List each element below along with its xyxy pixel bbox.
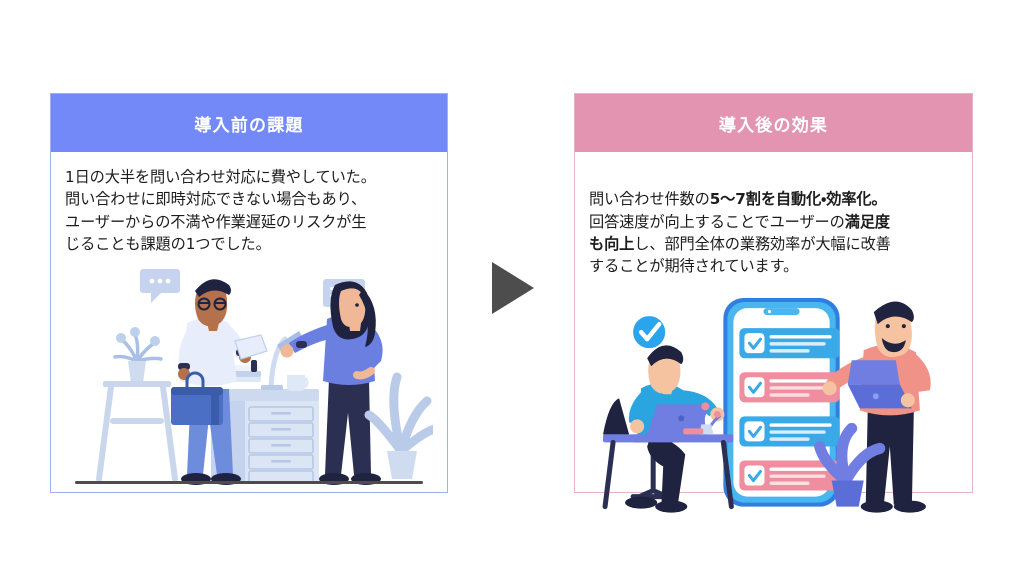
left-stool [99,381,175,479]
speech-bubble-left-icon [140,269,180,303]
card-before-title: 導入前の課題 [194,111,303,136]
slide-canvas: 導入前の課題 1日の大半を問い合わせ対応に費やしていた。 問い合わせに即時対応で… [0,0,1024,576]
card-after-title: 導入後の効果 [719,111,828,136]
smartphone-checklist-illustration [589,284,958,521]
check-badge-icon [633,316,665,348]
smartphone [723,298,839,507]
text-run-bold: 5〜7割を自動化・効率化。 [710,190,887,208]
card-after-header: 導入後の効果 [575,94,972,152]
card-before: 導入前の課題 1日の大半を問い合わせ対応に費やしていた。 問い合わせに即時対応で… [50,93,448,493]
right-plant [369,377,433,479]
card-before-header: 導入前の課題 [51,94,447,152]
text-run: 回答速度が向上することでユーザーの [589,213,845,231]
floor-line [75,481,423,484]
card-after: 導入後の効果 問い合わせ件数の5〜7割を自動化・効率化。 回答速度が向上すること… [574,93,973,493]
person-seated [603,345,733,512]
checklist-row [739,416,839,446]
checklist-row [739,328,839,358]
text-run: し、部門全体の業務効率が大幅に改善 することが期待されています。 [589,235,891,275]
card-before-body: 1日の大半を問い合わせ対応に費やしていた。 問い合わせに即時対応できない場合もあ… [51,152,447,497]
left-plant [115,327,161,383]
card-after-text: 問い合わせ件数の5〜7割を自動化・効率化。 回答速度が向上することでユーザーの満… [589,166,958,278]
text-run: 問い合わせ件数の [589,190,710,208]
two-coworkers-office-illustration [65,261,433,497]
card-before-text: 1日の大半を問い合わせ対応に費やしていた。 問い合わせに即時対応できない場合もあ… [65,166,433,255]
card-after-body: 問い合わせ件数の5〜7割を自動化・効率化。 回答速度が向上することでユーザーの満… [575,152,972,520]
right-arrow-icon [492,262,534,314]
